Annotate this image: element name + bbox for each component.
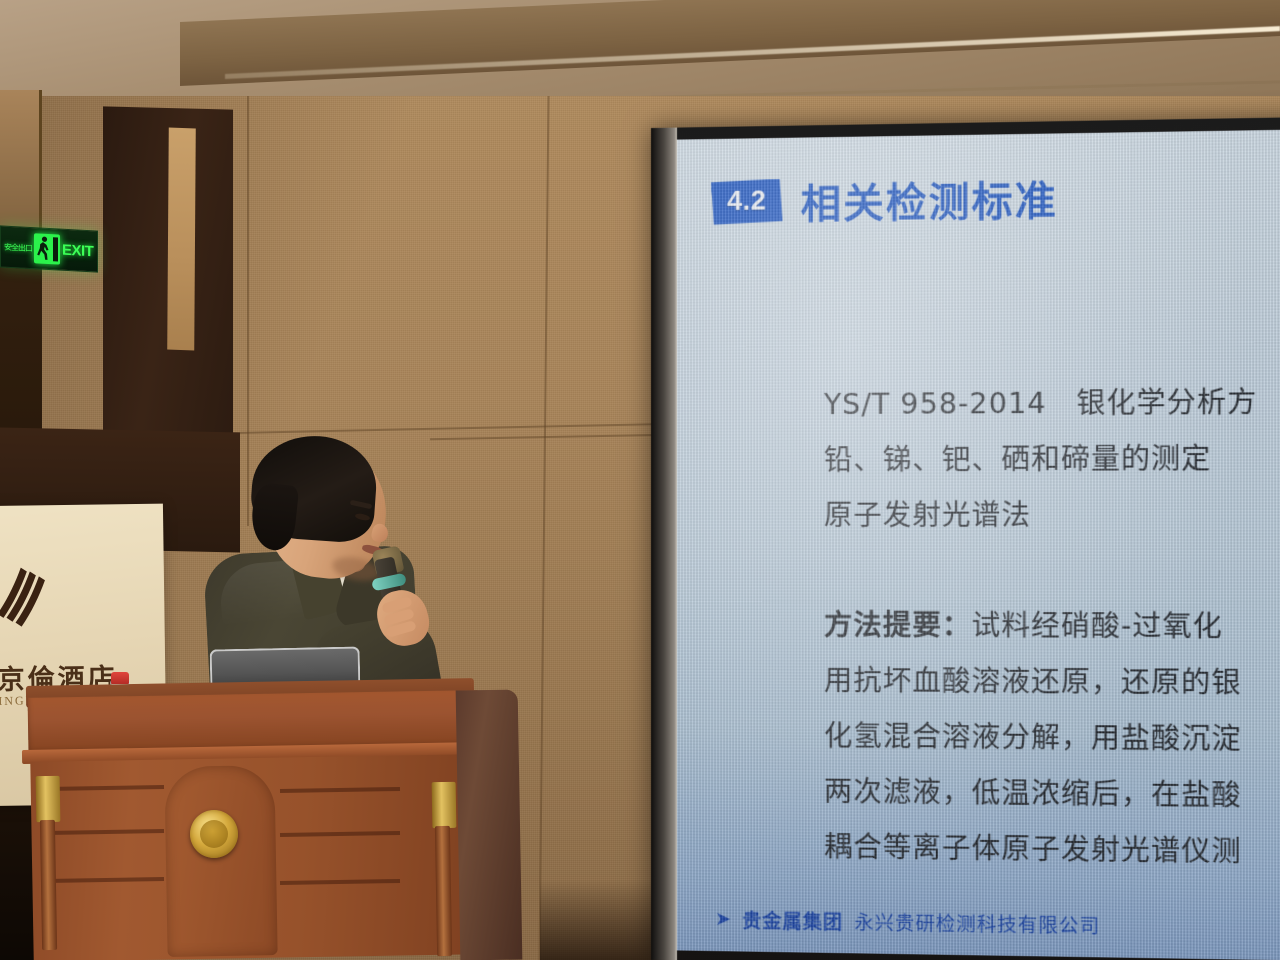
podium-side-panel [456, 689, 523, 960]
method-summary-first-line: 方法提要：试料经硝酸-过氧化 [824, 597, 1280, 655]
method-summary-label: 方法提要： [824, 608, 972, 642]
running-man-glyph [36, 235, 52, 262]
arrow-right-icon: ➤ [715, 910, 731, 929]
slide-footer: ➤ 贵金属集团 永兴贵研检测科技有限公司 [715, 906, 1100, 939]
presentation-photo-scene: 安全出口 EXIT 嶺·京倫酒店 AND JINGLUN HO [0, 0, 1280, 960]
presentation-slide-screen: 4.2 相关检测标准 YS/T 958-2014 银化学分析方 铅、锑、钯、硒和… [677, 129, 1280, 960]
slide-section-badge: 4.2 [711, 179, 782, 225]
podium-center-panel [164, 765, 277, 957]
slide-body: YS/T 958-2014 银化学分析方 铅、锑、钯、硒和碲量的测定 原子发射光… [824, 373, 1280, 882]
method-summary-line: 化氢混合溶液分解，用盐酸沉淀 [824, 708, 1280, 768]
hotel-wing-logo-icon [0, 565, 48, 632]
exit-sign: 安全出口 EXIT [0, 225, 98, 272]
method-summary-line: 用抗坏血酸溶液还原，还原的银 [824, 653, 1280, 712]
method-summary-paragraph: 方法提要：试料经硝酸-过氧化 用抗坏血酸溶液还原，还原的银 化氢混合溶液分解，用… [824, 597, 1280, 881]
slide-title-row: 4.2 相关检测标准 [711, 168, 1058, 231]
exit-door-gap [53, 237, 58, 261]
podium-column-cap-right [432, 782, 457, 828]
method-summary-line: 耦合等离子体原子发射光谱仪测 [824, 819, 1280, 882]
led-display-bezel: 4.2 相关检测标准 YS/T 958-2014 银化学分析方 铅、锑、钯、硒和… [651, 117, 1280, 960]
standard-line: 原子发射光谱法 [824, 486, 1280, 543]
paragraph-spacer [824, 543, 1280, 599]
method-summary-line: 试料经硝酸-过氧化 [972, 609, 1223, 643]
podium-column-cap-left [36, 776, 61, 822]
standard-line: 铅、锑、钯、硒和碲量的测定 [824, 430, 1280, 488]
footer-company-name: 永兴贵研检测科技有限公司 [854, 908, 1100, 939]
podium-column-shaft-right [435, 826, 452, 956]
exit-sign-english-label: EXIT [62, 241, 93, 260]
standard-line: YS/T 958-2014 银化学分析方 [824, 373, 1280, 432]
podium-column-shaft-left [40, 820, 57, 950]
running-man-icon [34, 233, 60, 264]
slide-content: 4.2 相关检测标准 YS/T 958-2014 银化学分析方 铅、锑、钯、硒和… [677, 129, 1280, 960]
standard-reference-paragraph: YS/T 958-2014 银化学分析方 铅、锑、钯、硒和碲量的测定 原子发射光… [824, 373, 1280, 543]
column-inset-stripe [167, 128, 196, 351]
footer-brand-name: 贵金属集团 [742, 906, 843, 935]
slide-title: 相关检测标准 [801, 168, 1058, 230]
method-summary-line: 两次滤液，低温浓缩后，在盐酸 [824, 764, 1280, 826]
exit-sign-chinese-label: 安全出口 [4, 241, 32, 253]
speaker-nose [370, 523, 389, 544]
podium-gold-medallion [190, 810, 238, 858]
display-bezel-left-edge [651, 128, 677, 960]
